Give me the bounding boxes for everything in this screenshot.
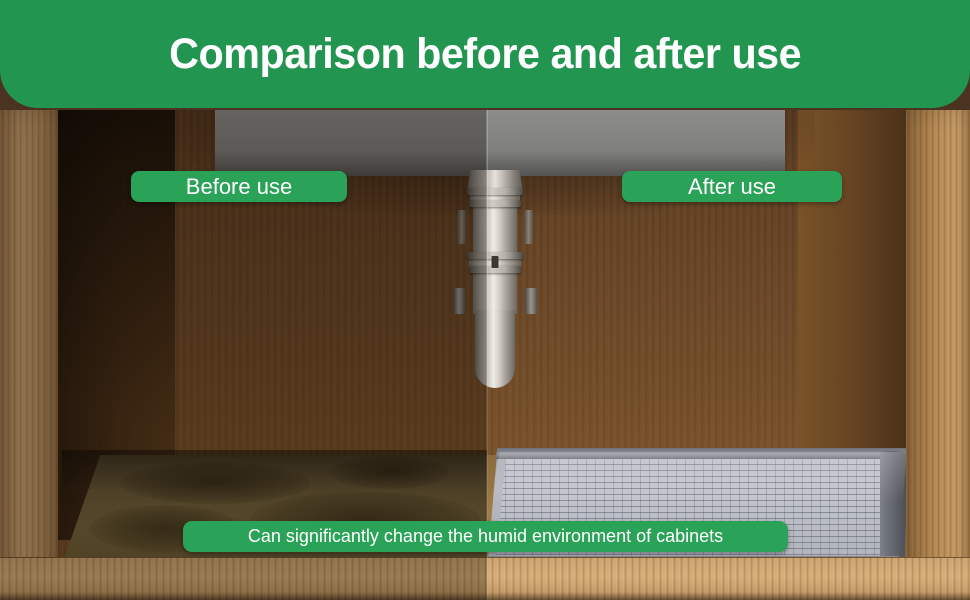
after-use-label: After use	[622, 171, 842, 202]
mat-highlight	[487, 452, 907, 502]
drain-pipe	[455, 170, 535, 395]
pipe-segment-upper	[473, 204, 517, 256]
pipe-trap-bottom	[475, 310, 515, 388]
pipe-notch	[492, 256, 499, 268]
caption-banner: Can significantly change the humid envir…	[183, 521, 788, 552]
pipe-tab-right	[525, 288, 537, 314]
cabinet-left-frame	[0, 110, 58, 600]
sink-basin	[215, 110, 785, 176]
pipe-segment-lower	[473, 270, 517, 314]
pipe-tab-left	[453, 288, 465, 314]
comparison-infographic: Comparison before and after use Before u…	[0, 0, 970, 600]
before-use-label: Before use	[131, 171, 347, 202]
pipe-tab-left-upper	[457, 210, 466, 244]
cabinet-right-frame	[906, 110, 970, 600]
pipe-collar-1	[467, 188, 523, 195]
header-banner: Comparison before and after use	[0, 0, 970, 108]
pipe-collar-2	[469, 200, 521, 207]
front-rail-shadow	[0, 592, 970, 600]
page-title: Comparison before and after use	[169, 30, 801, 79]
pipe-tab-right-upper	[524, 210, 533, 244]
